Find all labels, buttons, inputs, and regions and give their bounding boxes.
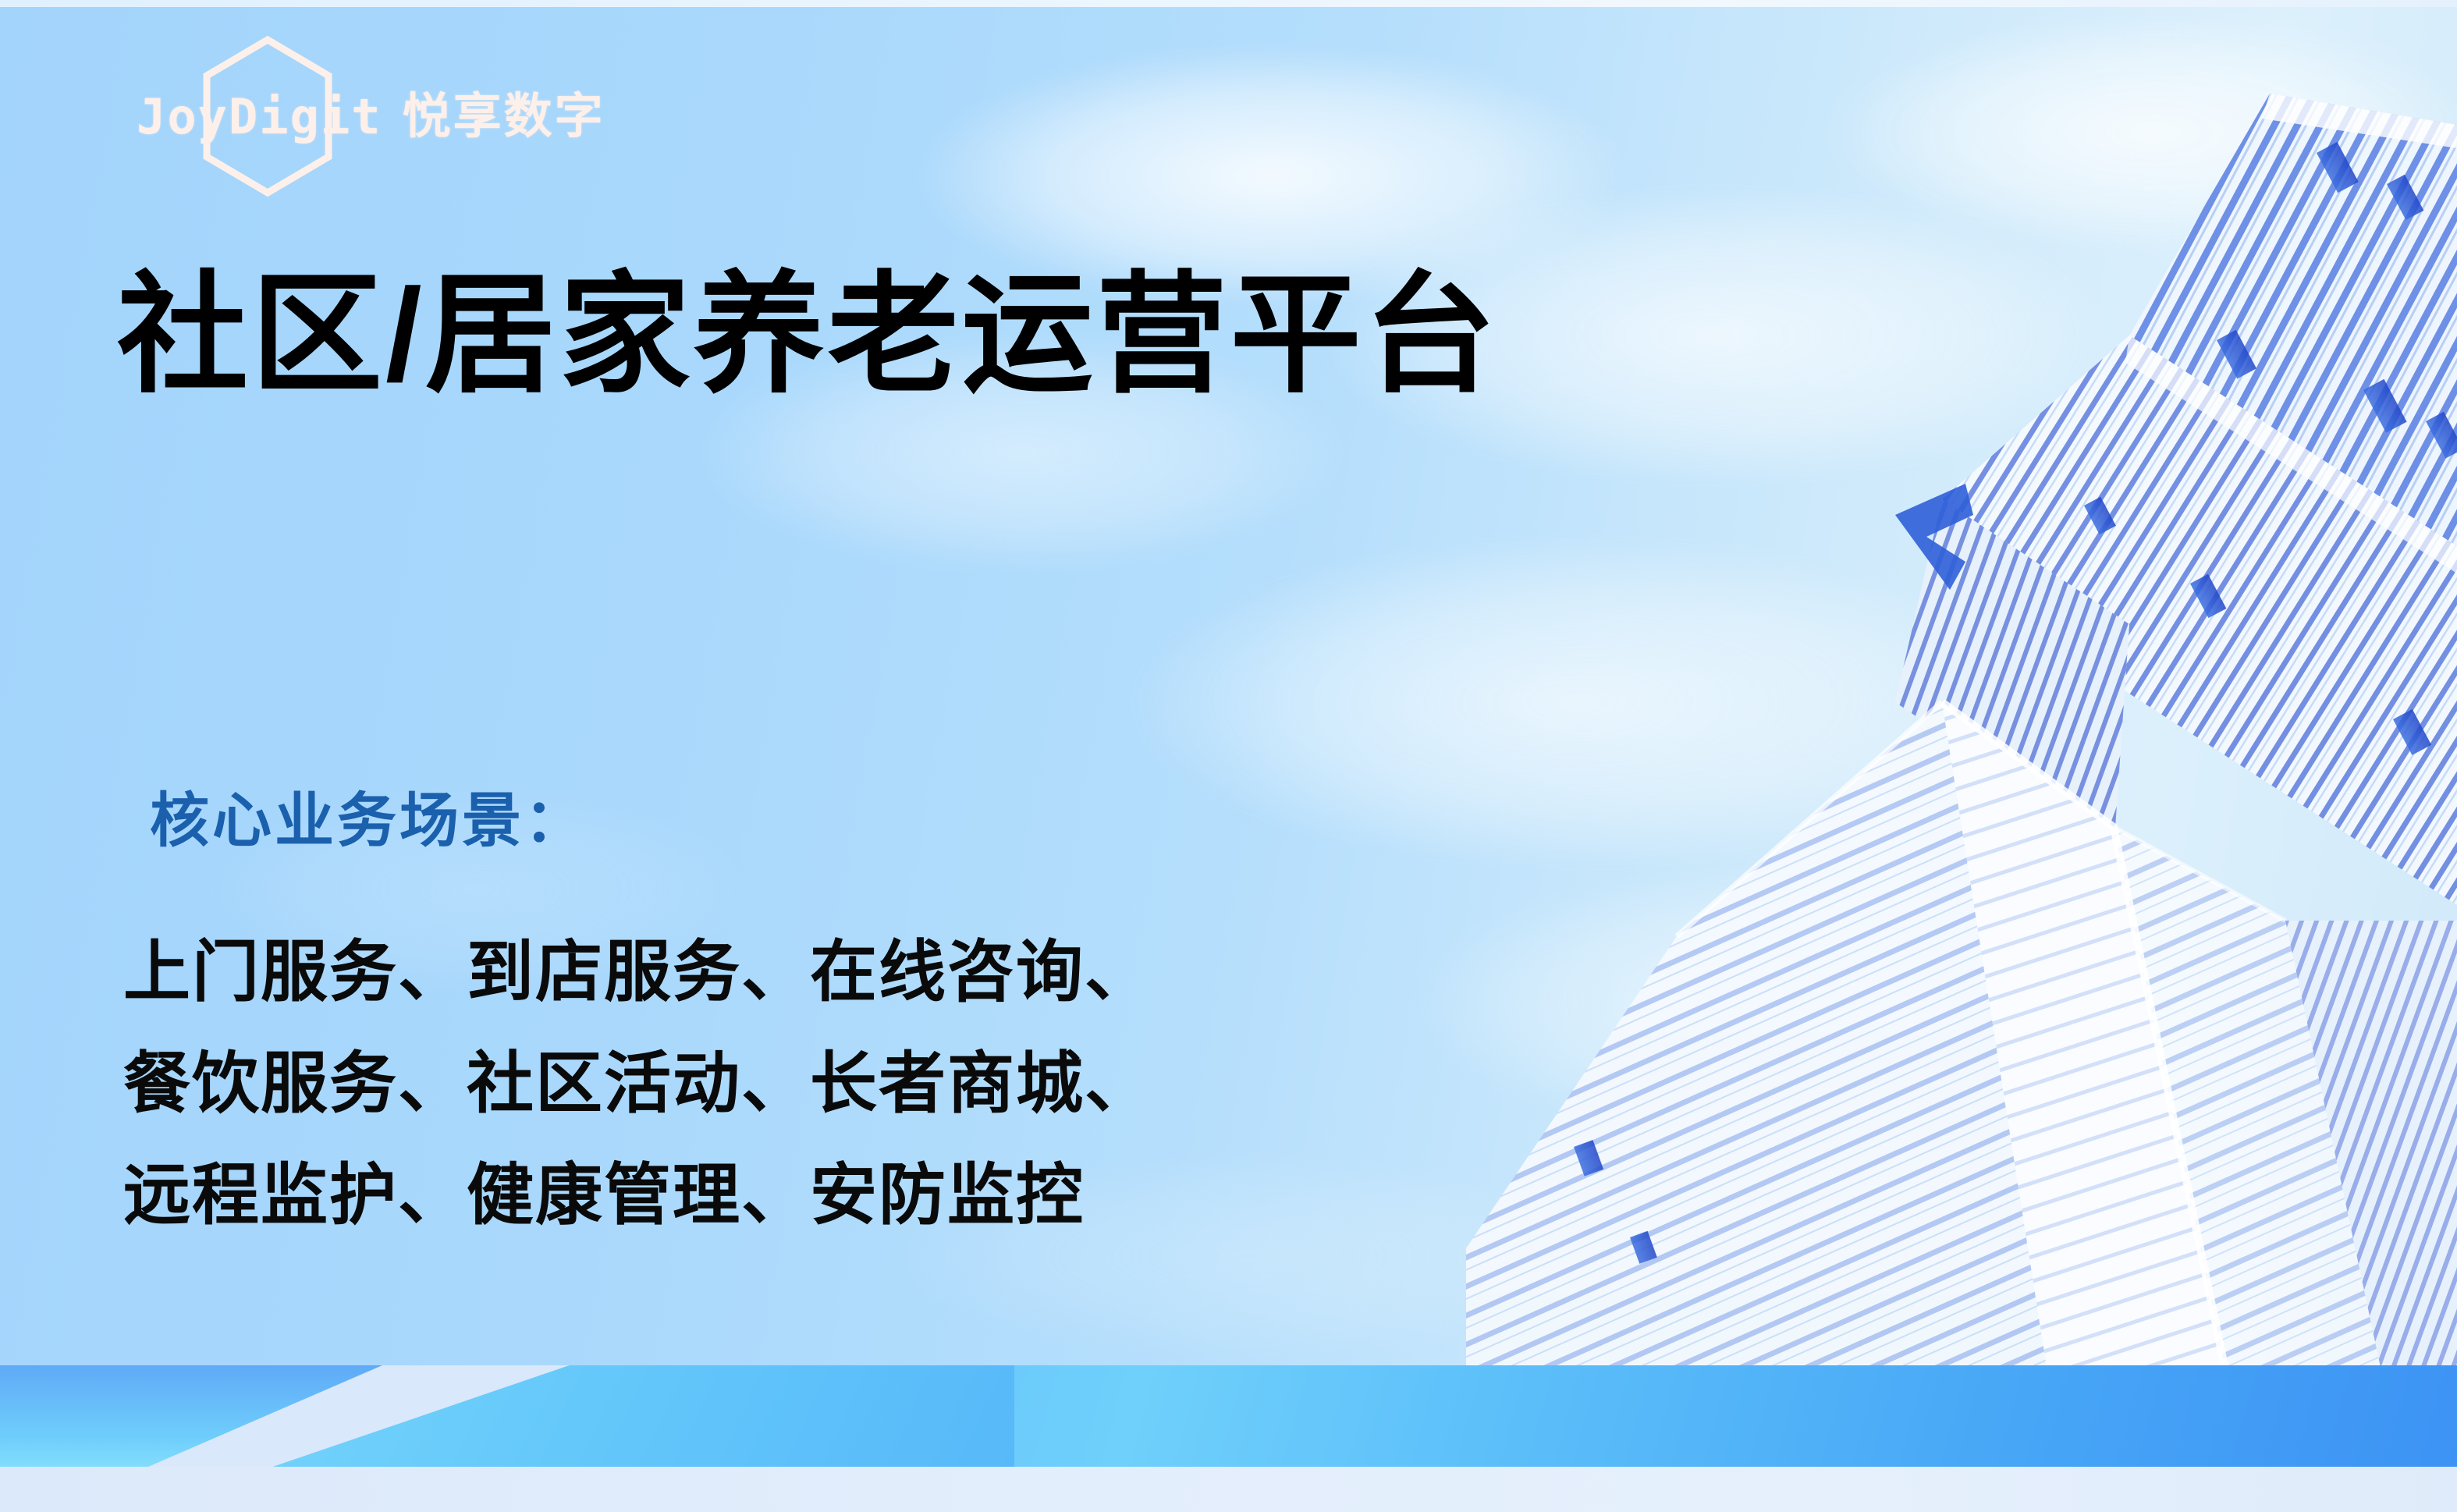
page-title: 社区/居家养老运营平台	[117, 257, 1499, 412]
logo-wordmark: JoyDigit	[137, 93, 382, 141]
logo-chinese-name: 悦享数字	[403, 93, 605, 141]
banner-foot-band	[0, 1467, 2457, 1512]
scenario-line: 上门服务、到店服务、在线咨询、	[123, 917, 1153, 1028]
top-edge-strip	[0, 0, 2457, 7]
scenario-line: 餐饮服务、社区活动、长者商城、	[123, 1028, 1153, 1140]
scenario-list: 上门服务、到店服务、在线咨询、 餐饮服务、社区活动、长者商城、 远程监护、健康管…	[123, 917, 1153, 1251]
brand-logo[interactable]: JoyDigit 悦享数字	[137, 74, 605, 160]
scenario-line: 远程监护、健康管理、安防监控	[123, 1140, 1153, 1251]
bottom-banner	[0, 1365, 2457, 1512]
skyscraper-photo	[1349, 0, 2457, 1397]
section-heading: 核心业务场景：	[150, 772, 587, 858]
slide-root: JoyDigit 悦享数字 社区/居家养老运营平台 核心业务场景： 上门服务、到…	[0, 0, 2457, 1512]
